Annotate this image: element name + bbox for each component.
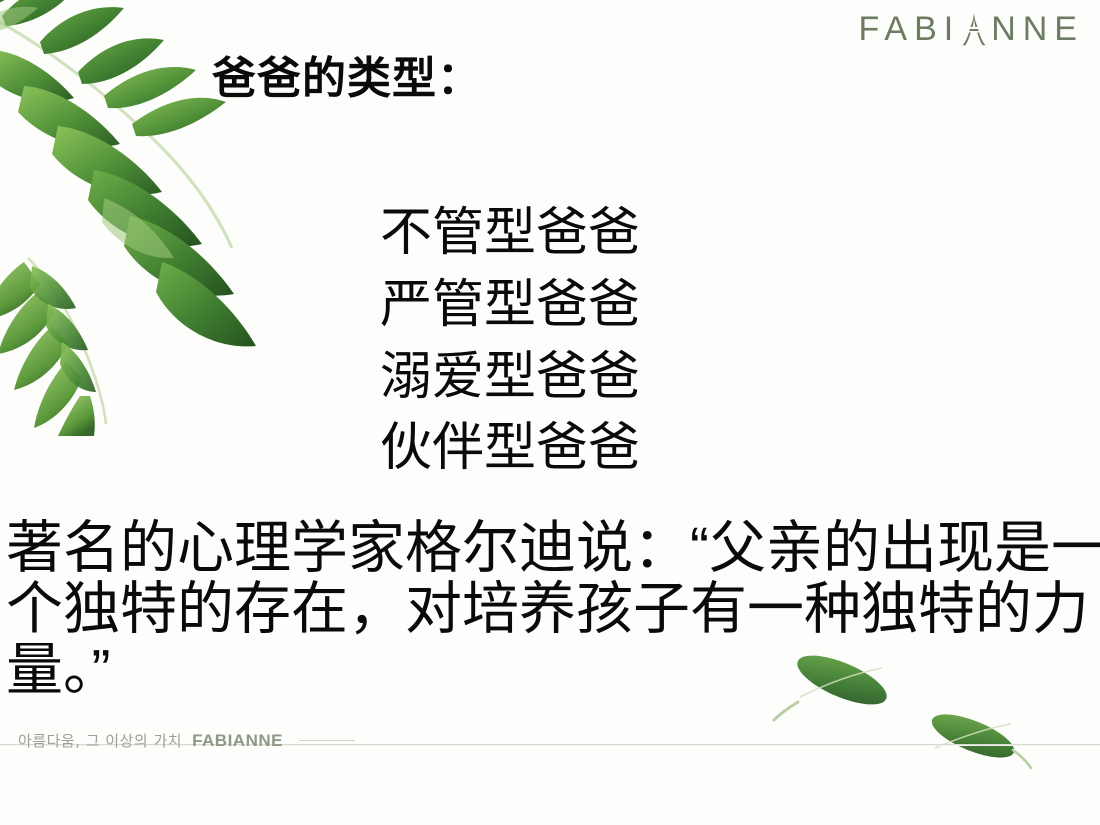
footer-korean-tagline: 아름다움, 그 이상의 가치: [18, 730, 182, 751]
quote-line: 量。”: [6, 640, 1096, 701]
quote-line: 著名的心理学家格尔迪说：“父亲的出现是一: [6, 518, 1096, 579]
quote-line: 个独特的存在，对培养孩子有一种独特的力: [6, 579, 1096, 640]
quote-paragraph: 著名的心理学家格尔迪说：“父亲的出现是一 个独特的存在，对培养孩子有一种独特的力…: [6, 518, 1096, 701]
brand-logo: FABI NNE: [859, 12, 1085, 46]
list-item: 不管型爸爸: [380, 198, 640, 270]
brand-logo-text-after: NNE: [991, 12, 1084, 46]
brand-logo-text-before: FABI: [859, 12, 961, 46]
footer-brand: FABIANNE: [192, 731, 283, 751]
list-item: 伙伴型爸爸: [380, 413, 640, 485]
list-item: 溺爱型爸爸: [380, 342, 640, 414]
leaf-illustration: [915, 700, 1035, 778]
footer-watermark: 아름다움, 그 이상의 가치 FABIANNE: [18, 730, 355, 751]
slide-canvas: FABI NNE 爸爸的类型： 不管型爸爸 严管型爸爸 溺爱型爸爸 伙伴型爸爸 …: [0, 0, 1100, 825]
footer-dash: [299, 740, 355, 741]
eiffel-a-icon: [961, 12, 987, 46]
father-type-list: 不管型爸爸 严管型爸爸 溺爱型爸爸 伙伴型爸爸: [380, 198, 640, 485]
list-item: 严管型爸爸: [380, 270, 640, 342]
page-title: 爸爸的类型：: [212, 42, 482, 106]
